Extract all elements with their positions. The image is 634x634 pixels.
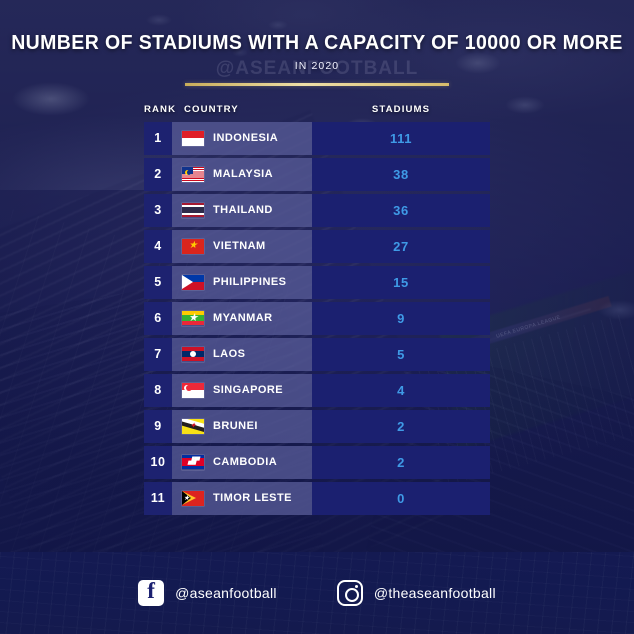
facebook-link[interactable]: @aseanfootball [138,580,277,606]
table-row: 5PHILIPPINES15 [144,266,490,299]
cambodia-flag: ▟▛ [182,455,204,470]
country-name: CAMBODIA [213,456,277,468]
stadium-count: 38 [393,167,409,182]
cell-country: ★MYANMAR [172,302,312,335]
page-subtitle: IN 2020 [0,60,634,72]
table-row: 10▟▛CAMBODIA2 [144,446,490,479]
table-row: 1INDONESIA111 [144,122,490,155]
timor-leste-flag: ★ [182,491,204,506]
stadium-count: 9 [397,311,405,326]
stadium-count: 36 [393,203,409,218]
cell-stadiums: 38 [312,158,490,191]
stadium-count: 15 [393,275,409,290]
cell-stadiums: 2 [312,410,490,443]
cell-stadiums: 36 [312,194,490,227]
stadium-count: 111 [390,131,412,146]
column-header-country: COUNTRY [172,104,312,115]
cell-country: ★TIMOR LESTE [172,482,312,515]
table-row: 11★TIMOR LESTE0 [144,482,490,515]
country-name: VIETNAM [213,240,266,252]
cell-stadiums: 5 [312,338,490,371]
table-row: 6★MYANMAR9 [144,302,490,335]
cell-stadiums: 9 [312,302,490,335]
country-name: TIMOR LESTE [213,492,292,504]
philippines-flag [182,275,204,290]
singapore-flag [182,383,204,398]
cell-rank: 6 [144,302,172,335]
myanmar-flag: ★ [182,311,204,326]
country-name: THAILAND [213,204,273,216]
header: NUMBER OF STADIUMS WITH A CAPACITY OF 10… [0,0,634,86]
cell-country: ★VIETNAM [172,230,312,263]
cell-stadiums: 111 [312,122,490,155]
cell-country: PHILIPPINES [172,266,312,299]
table-row: 9✦BRUNEI2 [144,410,490,443]
country-name: INDONESIA [213,132,278,144]
cell-rank: 4 [144,230,172,263]
cell-stadiums: 0 [312,482,490,515]
cell-country: SINGAPORE [172,374,312,407]
cell-rank: 2 [144,158,172,191]
cell-rank: 7 [144,338,172,371]
thailand-flag [182,203,204,218]
cell-country: MALAYSIA [172,158,312,191]
cell-country: ▟▛CAMBODIA [172,446,312,479]
cell-rank: 8 [144,374,172,407]
cell-stadiums: 15 [312,266,490,299]
table-body: 1INDONESIA1112MALAYSIA383THAILAND364★VIE… [144,122,490,515]
cell-country: THAILAND [172,194,312,227]
country-name: MALAYSIA [213,168,273,180]
facebook-handle: @aseanfootball [175,585,277,601]
table-row: 8SINGAPORE4 [144,374,490,407]
cell-rank: 9 [144,410,172,443]
cell-stadiums: 27 [312,230,490,263]
instagram-icon [337,580,363,606]
country-name: PHILIPPINES [213,276,286,288]
instagram-handle: @theaseanfootball [374,585,496,601]
cell-stadiums: 2 [312,446,490,479]
footer-socials: @aseanfootball @theaseanfootball [0,552,634,634]
cell-rank: 1 [144,122,172,155]
laos-flag [182,347,204,362]
table-row: 3THAILAND36 [144,194,490,227]
stadium-count: 2 [397,455,405,470]
table-row: 7LAOS5 [144,338,490,371]
page-title: NUMBER OF STADIUMS WITH A CAPACITY OF 10… [0,32,634,56]
stadium-count: 4 [397,383,405,398]
malaysia-flag [182,167,204,182]
indonesia-flag [182,131,204,146]
country-name: LAOS [213,348,245,360]
cell-country: ✦BRUNEI [172,410,312,443]
stadium-count: 0 [397,491,405,506]
table-header-row: RANK COUNTRY STADIUMS [144,104,490,122]
cell-rank: 3 [144,194,172,227]
column-header-stadiums: STADIUMS [312,104,490,115]
stadiums-table: RANK COUNTRY STADIUMS 1INDONESIA1112MALA… [144,104,490,515]
instagram-link[interactable]: @theaseanfootball [337,580,496,606]
cell-country: LAOS [172,338,312,371]
cell-rank: 10 [144,446,172,479]
title-divider [185,83,449,86]
country-name: SINGAPORE [213,384,283,396]
cell-stadiums: 4 [312,374,490,407]
column-header-rank: RANK [144,104,172,115]
stadium-count: 27 [393,239,409,254]
table-row: 4★VIETNAM27 [144,230,490,263]
brunei-flag: ✦ [182,419,204,434]
country-name: BRUNEI [213,420,258,432]
country-name: MYANMAR [213,312,273,324]
cell-country: INDONESIA [172,122,312,155]
table-row: 2MALAYSIA38 [144,158,490,191]
stadium-count: 5 [397,347,405,362]
cell-rank: 5 [144,266,172,299]
stadium-count: 2 [397,419,405,434]
facebook-icon [138,580,164,606]
vietnam-flag: ★ [182,239,204,254]
cell-rank: 11 [144,482,172,515]
